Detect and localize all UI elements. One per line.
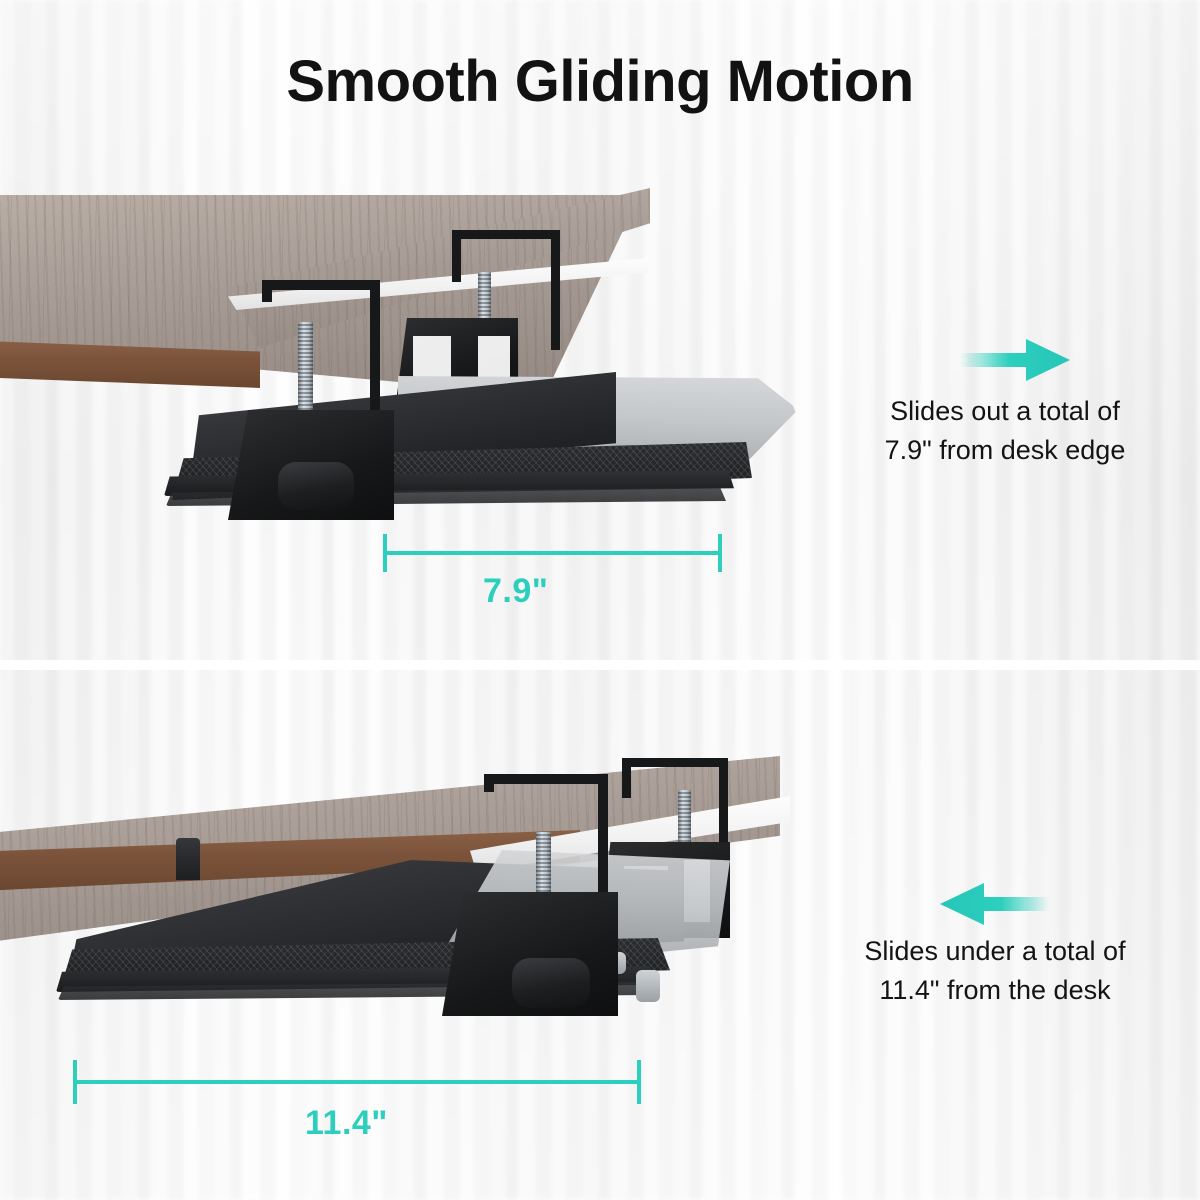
dimension-label-11-4: 11.4" <box>305 1104 388 1143</box>
tray-foot <box>636 970 660 1002</box>
clamp-knob <box>512 958 590 1008</box>
infographic-canvas: Smooth Gliding Motion <box>0 0 1200 1200</box>
tray-stop-tab <box>176 838 200 880</box>
panel-slides-under: 11.4" Slides under a total of 11.4" from… <box>0 670 1200 1200</box>
dimension-label-7-9: 7.9" <box>483 572 548 611</box>
panel-divider <box>0 660 1200 670</box>
arrow-right-icon <box>960 336 1070 384</box>
callout-slides-out: Slides out a total of 7.9" from desk edg… <box>820 392 1190 470</box>
clamp-knob <box>278 462 354 510</box>
arrow-left-icon <box>940 880 1050 928</box>
page-title: Smooth Gliding Motion <box>0 48 1200 115</box>
callout-slides-under: Slides under a total of 11.4" from the d… <box>800 932 1190 1010</box>
panel-slides-out: 7.9" Slides out a total of 7.9" from des… <box>0 140 1200 662</box>
